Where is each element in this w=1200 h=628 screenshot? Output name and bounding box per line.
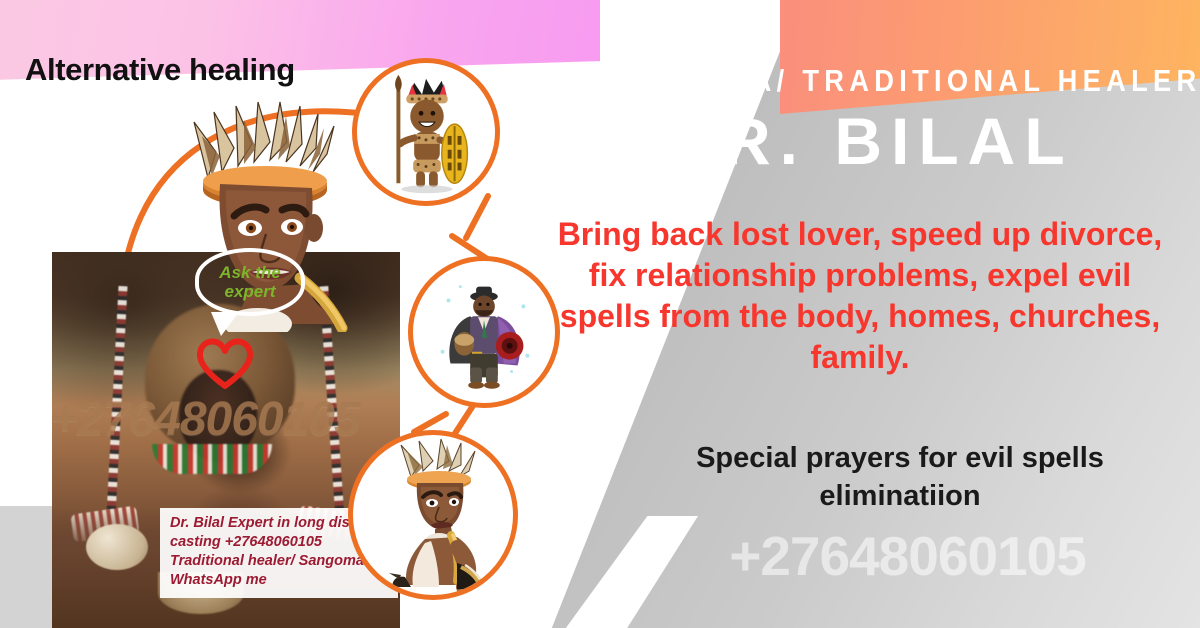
page-title: Alternative healing [25,52,295,88]
subtitle-kicker: SANGOMA/ TRADITIONAL HEALER [597,63,1143,99]
phone-number-watermark: +27648060105 [620,524,1195,588]
bubble-crouching-sangoma-icon [348,430,518,600]
special-prayers-text: Special prayers for evil spells eliminat… [620,440,1180,515]
bubble-zulu-warrior-icon [352,58,500,206]
ask-the-expert-bubble: Ask the expert [195,248,305,316]
services-text: Bring back lost lover, speed up divorce,… [540,214,1180,378]
speech-line-1: Ask the [219,263,280,282]
bubble-cloaked-healer-icon [408,256,560,408]
speech-bubble-text: Ask the expert [195,248,305,316]
grey-bottom-left-block [0,506,60,628]
photo-necklace [152,444,272,474]
heart-outline-icon [196,336,254,390]
speech-line-2: expert [224,282,275,301]
poster-canvas: Alternative healing [0,0,1200,628]
brand-name: DR. BILAL [560,103,1180,179]
photo-gourd [86,524,148,570]
photo-watermark-number: +27648060105 [50,392,360,447]
